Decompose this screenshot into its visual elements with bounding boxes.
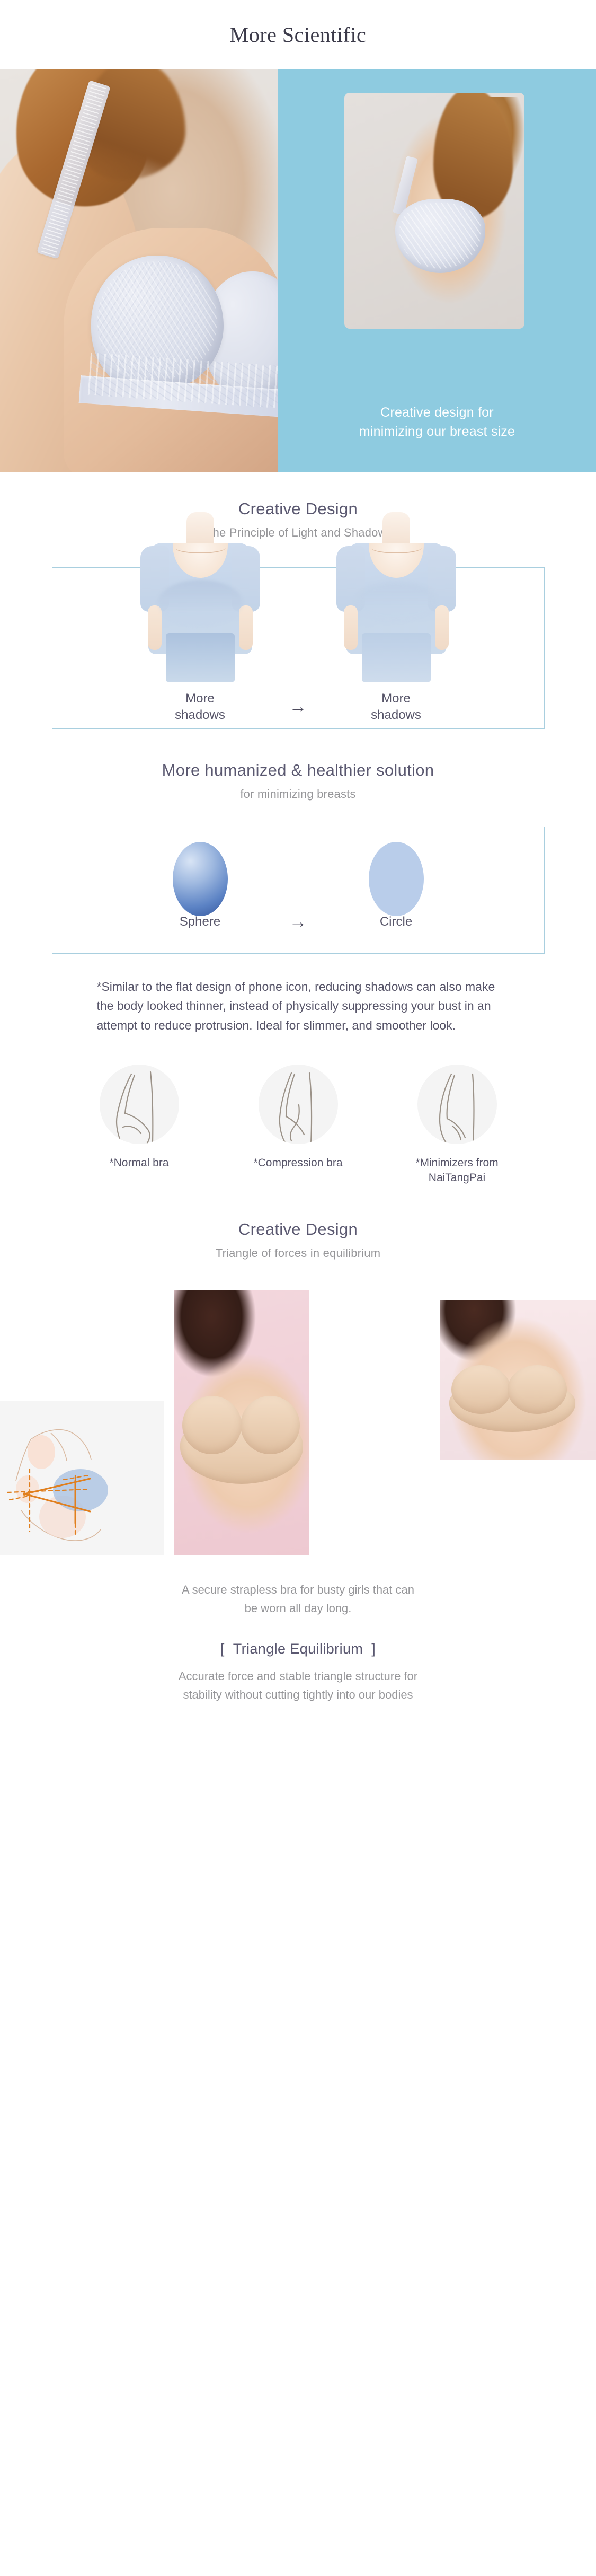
bra-comparison-row: *Normal bra *Compression bra: [0, 1065, 596, 1186]
page-title: More Scientific: [230, 22, 366, 47]
hero-title-container: More Scientific: [0, 0, 596, 69]
torso-arm-right: [239, 605, 253, 650]
sphere-label: Sphere: [134, 913, 266, 930]
shadow-arrow-icon: →: [266, 698, 330, 716]
sphere-shape-wrap: [134, 842, 266, 916]
strapless-bra-cup-right-right-photo: [508, 1365, 567, 1414]
triangle-section-title: Creative Design: [0, 1220, 596, 1239]
triangle-photo-collage: [0, 1279, 596, 1576]
shadow-section-title: Creative Design: [0, 499, 596, 518]
strapless-bra-cup-left-right-photo: [451, 1365, 511, 1414]
circle-shape-wrap: [330, 842, 462, 916]
torso-illustration-curvy: [134, 512, 266, 682]
triangle-section-subtitle: Triangle of forces in equilibrium: [0, 1246, 596, 1260]
sphere-diagram-labels: Sphere → Circle: [52, 913, 544, 931]
solution-section-title: More humanized & healthier solution: [0, 761, 596, 780]
shadow-label-right: More shadows: [330, 690, 462, 723]
hero-caption-line-2: minimizing our breast size: [278, 423, 596, 442]
sphere-shape-icon: [173, 842, 228, 916]
shadow-label-left: More shadows: [134, 690, 266, 723]
bra-comparison-caption: *Normal bra: [60, 1156, 219, 1171]
triangle-section-heading-group: Creative Design Triangle of forces in eq…: [0, 1220, 596, 1260]
solution-section-heading-group: More humanized & healthier solution for …: [0, 761, 596, 801]
bra-comparison-caption: *Compression bra: [219, 1156, 378, 1171]
triangle-equilibrium-line-2: stability without cutting tightly into o…: [0, 1685, 596, 1704]
shadow-label-right-line-2: shadows: [330, 707, 462, 723]
torso-skirt: [166, 633, 235, 682]
bust-silhouette-minimizer-icon: [417, 1065, 497, 1144]
sphere-arrow-icon: →: [266, 913, 330, 931]
strapless-bra-cup-left: [182, 1396, 242, 1454]
bracket-open: [: [220, 1641, 225, 1657]
torso-bust-shadow: [158, 580, 243, 626]
bracket-close: ]: [371, 1641, 376, 1657]
shadow-section-subtitle: the Principle of Light and Shadow: [0, 526, 596, 540]
flat-circle-shape-icon: [369, 842, 424, 916]
bust-silhouette-normal-icon: [100, 1065, 179, 1144]
bra-comparison-item-compression: *Compression bra: [219, 1065, 378, 1186]
triangle-equilibrium-line-1: Accurate force and stable triangle struc…: [0, 1667, 596, 1685]
bra-comparison-caption: *Minimizers from NaiTangPai: [378, 1156, 537, 1186]
sphere-diagram-box: Sphere → Circle: [52, 827, 545, 954]
solution-section-subtitle: for minimizing breasts: [0, 787, 596, 801]
closing-description-line-1: A secure strapless bra for busty girls t…: [0, 1580, 596, 1599]
torso-illustration-flat: [330, 512, 462, 682]
hero-caption: Creative design for minimizing our breas…: [278, 403, 596, 441]
product-detail-page: More Scientific Creative design for: [0, 0, 596, 1734]
strapless-bra-cup-right: [241, 1396, 300, 1454]
shadow-diagram-figures: [52, 568, 544, 682]
triangle-equilibrium-description: Accurate force and stable triangle struc…: [0, 1667, 596, 1734]
triangle-equilibrium-title: [ Triangle Equilibrium ]: [0, 1641, 596, 1657]
shadow-diagram-labels: More shadows → More shadows: [52, 690, 544, 723]
closing-description: A secure strapless bra for busty girls t…: [0, 1580, 596, 1617]
sphere-diagram-figures: [52, 827, 544, 905]
hero-section: Creative design for minimizing our breas…: [0, 69, 596, 472]
shadow-section-heading-group: Creative Design the Principle of Light a…: [0, 499, 596, 540]
shadow-diagram-box: More shadows → More shadows: [52, 567, 545, 729]
hero-model-photo: [0, 69, 278, 472]
torso-collarbone-line: [371, 542, 422, 553]
force-diagram-illustration: [0, 1401, 164, 1555]
bust-silhouette-compression-icon: [259, 1065, 338, 1144]
hero-caption-line-1: Creative design for: [278, 403, 596, 423]
torso-arm-right: [435, 605, 449, 650]
torso-collarbone-line: [175, 542, 226, 553]
model-photo-center: [174, 1290, 309, 1555]
torso-bust-shadow: [357, 582, 436, 620]
torso-skirt: [362, 633, 431, 682]
hero-inset-photo: [344, 93, 524, 329]
note-paragraph: *Similar to the flat design of phone ico…: [97, 977, 500, 1035]
closing-description-line-2: be worn all day long.: [0, 1599, 596, 1617]
bracket-title-text: Triangle Equilibrium: [229, 1641, 368, 1657]
model-photo-right: [440, 1300, 596, 1460]
shadow-label-left-line-1: More: [134, 690, 266, 707]
torso-arm-left: [344, 605, 358, 650]
shadow-label-right-line-1: More: [330, 690, 462, 707]
bra-comparison-item-normal: *Normal bra: [60, 1065, 219, 1186]
torso-arm-left: [148, 605, 162, 650]
circle-label: Circle: [330, 913, 462, 930]
bra-comparison-item-minimizer: *Minimizers from NaiTangPai: [378, 1065, 537, 1186]
hero-blue-panel: Creative design for minimizing our breas…: [278, 69, 596, 472]
shadow-label-left-line-2: shadows: [134, 707, 266, 723]
